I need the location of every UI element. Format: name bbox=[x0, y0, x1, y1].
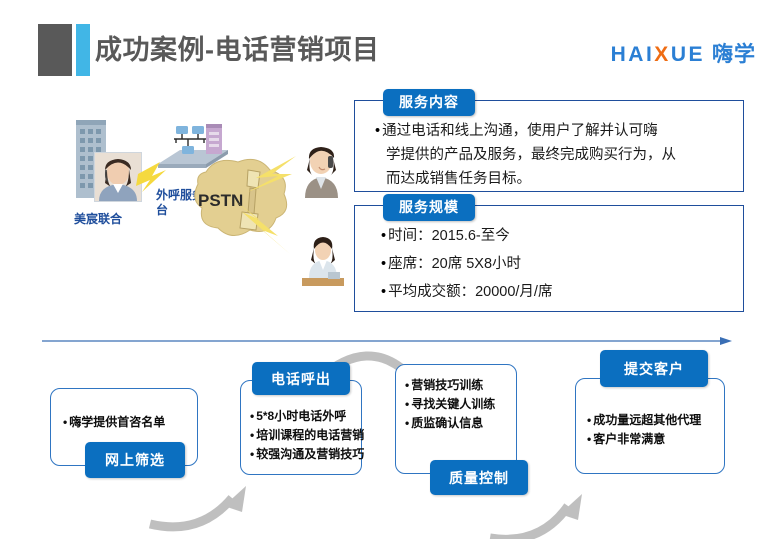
page-title: 成功案例-电话营销项目 bbox=[95, 28, 380, 67]
logo-wordmark: HAIXUE bbox=[611, 43, 705, 67]
service-content-line-2: 学提供的产品及服务，最终完成购买行为，从 bbox=[375, 143, 727, 167]
flow-stage-1-item-1: •嗨学提供首咨名单 bbox=[63, 413, 189, 432]
service-scale-line-3: •平均成交额：20000/月/席 bbox=[381, 278, 727, 306]
service-scale-line-1: •时间：2015.6-至今 bbox=[381, 222, 727, 250]
service-scale-body: •时间：2015.6-至今 •座席：20席 5X8小时 •平均成交额：20000… bbox=[355, 206, 743, 306]
logo-chinese: 嗨学 bbox=[712, 38, 756, 68]
flow-stage-4-item-1: •成功量远超其他代理 bbox=[587, 411, 716, 430]
flow-stage-3-panel: •营销技巧训练 •寻找关键人训练 •质监确认信息 bbox=[395, 364, 517, 474]
process-flow: •嗨学提供首咨名单 网上筛选 •5*8小时电话外呼 •培训课程的电话营销 •较强… bbox=[0, 340, 778, 539]
lightning-bolt-upper-right bbox=[248, 156, 296, 192]
service-content-panel: 服务内容 •通过电话和线上沟通，使用户了解并认可嗨 学提供的产品及服务，最终完成… bbox=[354, 100, 744, 192]
flow-stage-3-items: •营销技巧训练 •寻找关键人训练 •质监确认信息 bbox=[396, 365, 516, 433]
flow-stage-2-item-3: •较强沟通及营销技巧 bbox=[250, 445, 353, 464]
flow-stage-2-tag[interactable]: 电话呼出 bbox=[252, 362, 350, 395]
flow-stage-2-item-1: •5*8小时电话外呼 bbox=[250, 407, 353, 426]
flow-stage-4-tag[interactable]: 提交客户 bbox=[600, 350, 708, 387]
service-scale-panel: 服务规模 •时间：2015.6-至今 •座席：20席 5X8小时 •平均成交额：… bbox=[354, 205, 744, 312]
lightning-bolt-left bbox=[136, 162, 166, 192]
header-gray-bar bbox=[38, 24, 72, 76]
customer-photo-1 bbox=[297, 144, 342, 198]
haixue-logo: HAIXUE 嗨学 bbox=[611, 38, 756, 68]
flow-arrow-1 bbox=[150, 486, 246, 527]
service-scale-line-2: •座席：20席 5X8小时 bbox=[381, 250, 727, 278]
service-scale-badge: 服务规模 bbox=[383, 194, 475, 221]
flow-stage-4-item-2: •客户非常满意 bbox=[587, 430, 716, 449]
flow-stage-4-items: •成功量远超其他代理 •客户非常满意 bbox=[576, 379, 724, 449]
signal-lightning-bolts bbox=[34, 96, 354, 321]
customer-photo-2 bbox=[302, 236, 344, 286]
flow-arrow-3 bbox=[490, 494, 582, 539]
flow-stage-2-item-2: •培训课程的电话营销 bbox=[250, 426, 353, 445]
flow-stage-4-panel: •成功量远超其他代理 •客户非常满意 bbox=[575, 378, 725, 474]
header-blue-bar bbox=[76, 24, 90, 76]
flow-stage-1-tag[interactable]: 网上筛选 bbox=[85, 442, 185, 478]
service-content-line-3: 而达成销售任务目标。 bbox=[375, 167, 727, 191]
flow-stage-1-items: •嗨学提供首咨名单 bbox=[51, 389, 197, 432]
flow-stage-3-item-1: •营销技巧训练 bbox=[405, 376, 508, 395]
slide-header: 成功案例-电话营销项目 HAIXUE 嗨学 bbox=[0, 0, 778, 84]
logo-text-x: X bbox=[654, 43, 671, 66]
flow-stage-3-item-2: •寻找关键人训练 bbox=[405, 395, 508, 414]
service-content-badge: 服务内容 bbox=[383, 89, 475, 116]
service-content-line-1: •通过电话和线上沟通，使用户了解并认可嗨 bbox=[375, 119, 727, 143]
flow-stage-3-tag[interactable]: 质量控制 bbox=[430, 460, 528, 495]
lightning-bolt-lower-right bbox=[234, 200, 290, 254]
logo-text-hai: HAI bbox=[611, 43, 655, 66]
logo-text-ue: UE bbox=[671, 43, 705, 66]
network-diagram: 美宸联合 外呼服务平台 bbox=[34, 96, 354, 321]
slide-root: 成功案例-电话营销项目 HAIXUE 嗨学 bbox=[0, 0, 778, 539]
flow-stage-3-item-3: •质监确认信息 bbox=[405, 414, 508, 433]
